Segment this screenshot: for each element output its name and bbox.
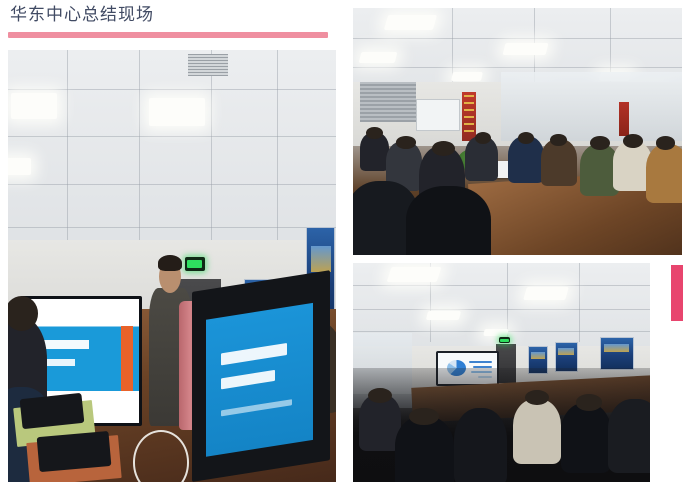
group-meeting-wide-photo: [353, 8, 682, 255]
glass-partition: [501, 72, 682, 141]
ceiling-light: [8, 158, 31, 175]
attendee-person: [395, 416, 454, 482]
right-edge-accent-bar: [671, 265, 683, 321]
attendee-head: [409, 408, 439, 426]
attendee-person: [513, 399, 561, 465]
attendee-head: [368, 388, 392, 403]
ceiling-light: [483, 329, 508, 336]
attendee-head: [518, 132, 534, 144]
attendee-person: [406, 186, 492, 255]
attendee-head: [396, 136, 416, 148]
exit-sign-icon: [185, 257, 205, 271]
audience-back-view-photo: [353, 263, 650, 482]
ceiling-light: [358, 52, 397, 63]
photo-scene-group: [353, 8, 682, 255]
attendee-person: [454, 408, 507, 482]
ceiling-light: [11, 93, 57, 119]
laptop-slide: [205, 303, 312, 457]
ceiling-vent: [188, 54, 227, 76]
whiteboard: [416, 99, 461, 131]
ceiling-light: [149, 98, 205, 126]
laptop-display: [192, 270, 330, 482]
attendee-head: [475, 132, 491, 144]
attendee-person: [561, 403, 611, 473]
page-title: 华东中心总结现场: [10, 2, 154, 28]
attendee-head: [8, 296, 38, 331]
title-underline-rule: [8, 32, 328, 38]
attendee-person: [646, 144, 682, 203]
attendee-head: [576, 394, 603, 410]
attendee-person: [608, 399, 650, 473]
attendee-head: [623, 134, 643, 148]
exit-sign-icon: [499, 337, 511, 342]
ceiling-light: [523, 287, 568, 300]
ceiling-light: [503, 43, 549, 55]
attendee-head: [590, 136, 610, 150]
attendee-head: [550, 134, 566, 146]
ceiling-light: [384, 15, 438, 30]
photo-scene-main: [8, 50, 336, 482]
mobile-phone: [36, 431, 111, 472]
hanging-banner: [619, 102, 629, 137]
hanging-banner: [462, 92, 477, 141]
window-blind: [360, 82, 416, 122]
ceiling: [8, 50, 336, 253]
meeting-room-presenter-photo: [8, 50, 336, 482]
ceiling-light: [451, 72, 482, 81]
ceiling-light: [426, 311, 461, 320]
photo-scene-audience: [353, 263, 650, 482]
attendee-head: [366, 127, 382, 139]
ceiling-light: [386, 267, 441, 282]
mobile-phone: [20, 392, 85, 429]
wall-poster: [600, 337, 635, 370]
